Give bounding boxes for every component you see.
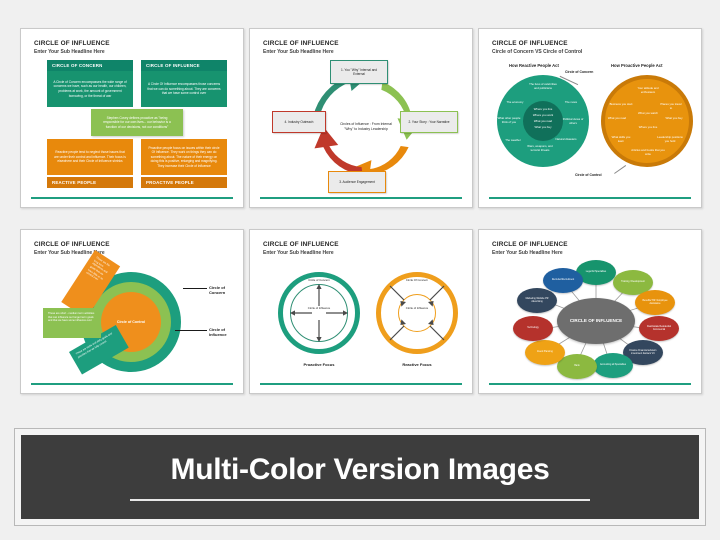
proactive-people-header: PROACTIVE PEOPLE xyxy=(141,177,227,188)
slide-3-title: CIRCLE OF INFLUENCE xyxy=(492,40,568,47)
leader-line-influence-4 xyxy=(175,330,207,331)
control-word-3: What you buy xyxy=(526,126,560,130)
reactive-word-0: The lives of celebrities and politicians xyxy=(528,83,558,91)
slide-2-title: CIRCLE OF INFLUENCE xyxy=(263,40,339,47)
presentation-preview-page: CIRCLE OF INFLUENCE Enter Your Sub Headl… xyxy=(0,0,720,540)
node-real-estate[interactable]: Real Estate Residential Commercial xyxy=(639,316,679,341)
proactive-word-9: Articles and books that you write xyxy=(630,149,666,157)
proactive-people-body: Proactive people focus on issues within … xyxy=(141,139,227,175)
label-circle-of-concern-4: Circle of Concern xyxy=(209,285,239,295)
node-marketing[interactable]: Marketing Website PR Advertising xyxy=(517,288,557,313)
proactive-word-3: What you read xyxy=(604,117,630,121)
cycle-step-4[interactable]: 4. Industry Outreach xyxy=(272,111,326,133)
slide-4-accent-bar xyxy=(31,383,233,385)
banner-left-activities: These are short - medium term activities… xyxy=(43,308,101,338)
cycle-step-2[interactable]: 2. Your Story : Your Narrative xyxy=(400,111,458,133)
callout-circle-of-concern: Circle of Concern xyxy=(565,70,593,74)
proactive-word-8: Leadership positions you hold xyxy=(655,136,685,144)
control-word-0: Where you live xyxy=(526,108,560,112)
label-circle-of-influence-4: Circle of Influence xyxy=(209,327,239,337)
slide-6-hub-spoke[interactable]: CIRCLE OF INFLUENCE Enter Your Sub Headl… xyxy=(478,229,702,394)
reactive-people-body: Reactive people tend to neglect those is… xyxy=(47,139,133,175)
reactive-word-4: Political views of others xyxy=(561,118,585,126)
slide-2-accent-bar xyxy=(260,197,462,199)
banner-title: Multi-Color Version Images xyxy=(171,453,550,487)
leader-line-concern-4 xyxy=(183,288,207,289)
circle-of-influence-body: A Circle Of Influence encompasses those … xyxy=(141,71,227,107)
slide-3-accent-bar xyxy=(489,197,691,199)
proactive-word-2: Places you travel to xyxy=(659,103,683,111)
slide-2-cycle[interactable]: CIRCLE OF INFLUENCE Enter Your Sub Headl… xyxy=(249,28,473,208)
node-recruiter[interactable]: Recruiter/Recruitment xyxy=(543,268,583,293)
cycle-step-3[interactable]: 3. Audience Engagement xyxy=(328,171,386,193)
proactive-heading: How Proactive People Act xyxy=(611,63,663,68)
cycle-diagram: Circles of Influence : From Internal "Wh… xyxy=(254,55,468,203)
reactive-heading: How Reactive People Act xyxy=(509,63,559,68)
reactive-word-7: Natural disasters xyxy=(555,138,577,142)
slide-3-comparison-circles[interactable]: CIRCLE OF INFLUENCE Circle of Concern VS… xyxy=(478,28,702,208)
proactive-word-6: Where you live xyxy=(633,126,663,130)
callout-circle-of-control: Circle of Control xyxy=(575,173,602,177)
proactive-word-0: Your attitude and enthusiasm xyxy=(630,87,666,95)
slide-row-2: CIRCLE OF INFLUENCE Enter Your Sub Headl… xyxy=(20,229,704,394)
proactive-word-7: What skills you learn xyxy=(609,136,633,144)
slide-1-quadrant[interactable]: CIRCLE OF INFLUENCE Enter Your Sub Headl… xyxy=(20,28,244,208)
node-benefits-hr[interactable]: Benefits/ HR / Employee Assistance xyxy=(635,290,675,315)
reactive-word-3: What other people think of you xyxy=(496,117,522,125)
circle-of-influence-header: CIRCLE OF INFLUENCE xyxy=(141,60,227,71)
slide-4-title: CIRCLE OF INFLUENCE xyxy=(34,241,110,248)
hub-circle-of-influence: CIRCLE OF INFLUENCE xyxy=(557,298,635,344)
node-event-planning[interactable]: Event Planning xyxy=(525,340,565,365)
slide-1-subtitle: Enter Your Sub Headline Here xyxy=(34,49,105,55)
reactive-word-5: The weather xyxy=(503,139,523,143)
slide-grid: CIRCLE OF INFLUENCE Enter Your Sub Headl… xyxy=(20,28,704,415)
slide-1-accent-bar xyxy=(31,197,233,199)
proactive-word-5: What you buy xyxy=(661,117,687,121)
cycle-step-1[interactable]: 1. You "Why" Internal and External xyxy=(330,60,388,84)
circle-of-concern-teal: The lives of celebrities and politicians… xyxy=(497,75,589,167)
reactive-arrows-icon xyxy=(254,234,468,389)
circle-of-concern-header: CIRCLE OF CONCERN xyxy=(47,60,133,71)
reactive-word-1: The economy xyxy=(504,101,526,105)
control-word-2: What you read xyxy=(526,120,560,124)
slide-row-1: CIRCLE OF INFLUENCE Enter Your Sub Headl… xyxy=(20,28,704,208)
banner-divider xyxy=(130,499,590,501)
circle-of-control-orange: Your attitude and enthusiasm Business yo… xyxy=(601,75,693,167)
slide-5-focus-rings[interactable]: CIRCLE OF INFLUENCE Enter Your Sub Headl… xyxy=(249,229,473,394)
slide-3-subtitle: Circle of Concern VS Circle of Control xyxy=(492,49,582,55)
node-technology[interactable]: Technology xyxy=(513,316,553,341)
bottom-banner: Multi-Color Version Images xyxy=(14,428,706,526)
reactive-word-2: The news xyxy=(559,101,583,105)
circle-of-concern-body: A Circle of Concern encompasses the wide… xyxy=(47,71,133,107)
reactive-people-header: REACTIVE PEOPLE xyxy=(47,177,133,188)
covey-quote-box: Stephen Covey defines proactive as "bein… xyxy=(91,109,183,136)
control-word-1: Where you work xyxy=(526,114,560,118)
proactive-word-4: What you watch xyxy=(633,112,663,116)
slide-4-concentric[interactable]: CIRCLE OF INFLUENCE Enter Your Sub Headl… xyxy=(20,229,244,394)
leader-line-control xyxy=(614,165,626,174)
node-accounting[interactable]: Accounting all Specialties xyxy=(593,353,633,378)
reactive-word-6: Wars, weapons, and terrorist threats xyxy=(527,145,553,153)
proactive-word-1: Business you start xyxy=(609,103,633,107)
slide-1-title: CIRCLE OF INFLUENCE xyxy=(34,40,110,47)
ring-center-label: Circle of Control xyxy=(101,292,161,352)
cycle-center-label: Circles of Influence : From Internal "Wh… xyxy=(336,97,396,157)
